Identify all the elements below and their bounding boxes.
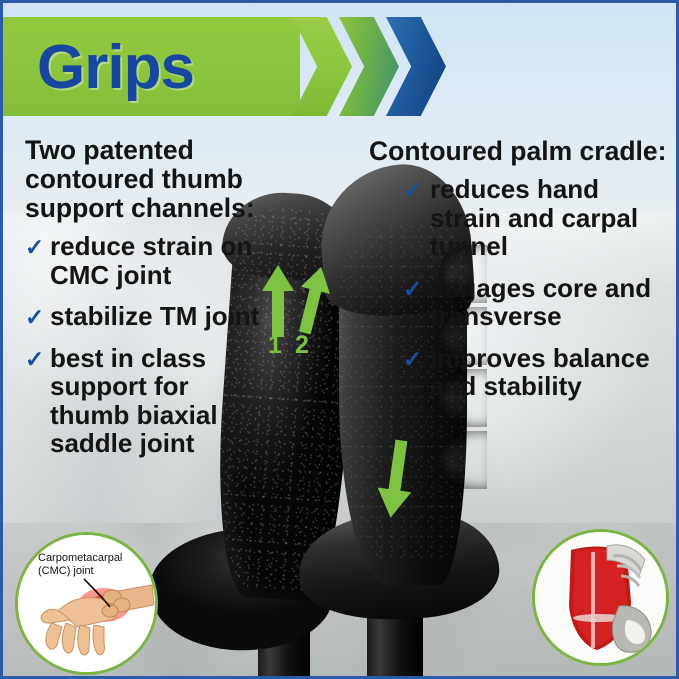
cmc-joint-inset: Carpometacarpal (CMC) joint (15, 532, 158, 675)
list-item: ✓ reduce strain on CMC joint (25, 232, 263, 289)
bullet-text: stabilize TM joint (50, 301, 259, 331)
bullet-text: engages core and transverse (430, 273, 651, 332)
header-banner: Grips (3, 17, 676, 116)
bullet-text: best in class support for thumb biaxial … (50, 343, 218, 459)
left-column-heading: Two patented contoured thumb support cha… (25, 136, 263, 223)
chevron-1-icon (292, 17, 352, 116)
infographic-canvas: 1 2 Grips Two patented contoured thumb s… (0, 0, 679, 679)
checkmark-icon: ✓ (25, 303, 44, 331)
checkmark-icon: ✓ (25, 345, 44, 373)
inset-caption-line1: Carpometacarpal (38, 552, 148, 565)
bullet-text: reduces hand strain and carpal tunnel (430, 174, 638, 261)
bullet-text: reduce strain on CMC joint (50, 231, 252, 290)
finger-scallop (439, 431, 487, 489)
checkmark-icon: ✓ (25, 233, 44, 261)
inset-caption: Carpometacarpal (CMC) joint (38, 552, 148, 578)
left-bullet-list: ✓ reduce strain on CMC joint ✓ stabilize… (25, 232, 263, 458)
list-item: ✓ engages core and transverse (403, 274, 669, 331)
right-feature-column: Contoured palm cradle: ✓ reduces hand st… (369, 137, 669, 414)
left-feature-column: Two patented contoured thumb support cha… (25, 136, 263, 471)
list-item: ✓ reduces hand strain and carpal tunnel (403, 175, 669, 261)
transverse-abdominis-illustration (535, 532, 666, 663)
right-column-heading: Contoured palm cradle: (369, 137, 669, 166)
inset-caption-line2: (CMC) joint (38, 565, 148, 578)
arrow-2-label: 2 (295, 333, 309, 358)
checkmark-icon: ✓ (403, 176, 422, 204)
right-bullet-list: ✓ reduces hand strain and carpal tunnel … (369, 175, 669, 401)
list-item: ✓ stabilize TM joint (25, 302, 263, 331)
page-title: Grips (37, 37, 194, 99)
list-item: ✓ improves balance and stability (403, 344, 669, 401)
checkmark-icon: ✓ (403, 345, 422, 373)
bullet-text: improves balance and stability (430, 343, 650, 402)
checkmark-icon: ✓ (403, 275, 422, 303)
core-muscle-inset (532, 529, 669, 666)
arrow-1-label: 1 (268, 333, 282, 358)
list-item: ✓ best in class support for thumb biaxia… (25, 344, 263, 458)
